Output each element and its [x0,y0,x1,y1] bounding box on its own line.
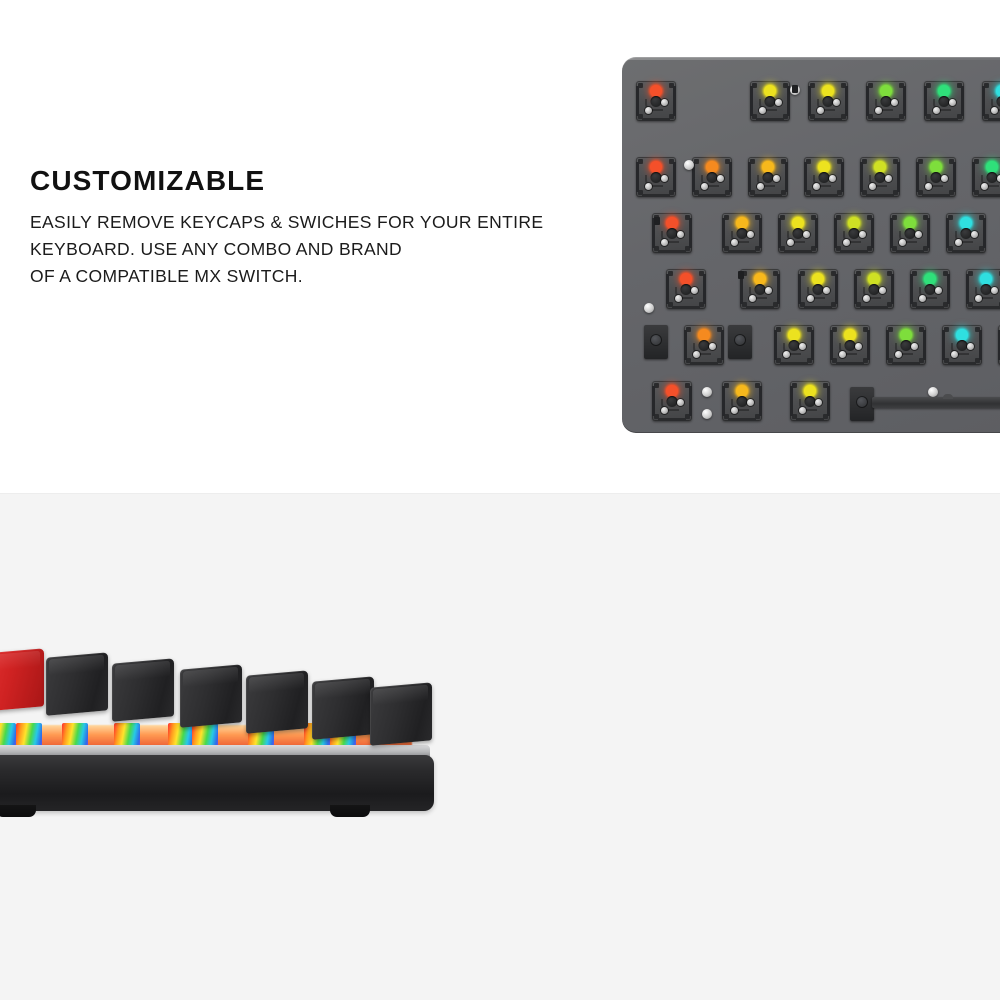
stabilizer-insert [850,387,874,421]
keyboard-switch-socket [636,81,676,121]
switch-pin-hole [991,287,998,294]
switch-pin-hole [677,231,684,238]
keycap-black [312,676,374,739]
switch-pin-hole [677,399,684,406]
switch-pin-hole [815,399,822,406]
switch-pin-hole [645,107,652,114]
switch-pin-hole [823,287,830,294]
keyboard-switch-socket [774,325,814,365]
switch-pin-hole [749,295,756,302]
switch-side-clip [738,271,744,279]
switch-pin-hole [731,407,738,414]
keycap-black [370,682,432,745]
switch-pin-hole [765,287,772,294]
switch-pin-hole [955,239,962,246]
switch-pin-hole [691,287,698,294]
keyboard-switch-socket [860,157,900,197]
keyboard-switch-socket [866,81,906,121]
switch-pin-hole [693,351,700,358]
keyboard-switch-socket [750,81,790,121]
keyboard-switch-socket [778,213,818,253]
keycap-black [180,664,242,727]
keyboard-switch-socket [748,157,788,197]
switch-pin-hole [833,99,840,106]
switch-pin-hole [731,239,738,246]
switch-pin-hole [757,183,764,190]
keyboard-switch-socket [830,325,870,365]
keycap-black [112,658,174,721]
switch-pin-hole [911,343,918,350]
keyboard-side-profile-image [0,645,452,815]
keyboard-foot [0,805,36,817]
keyboard-switch-socket [916,157,956,197]
body-line: KEYBOARD. USE ANY COMBO AND BRAND [30,236,630,263]
switch-pin-hole [935,287,942,294]
keyboard-switch-socket [722,381,762,421]
switch-pin-hole [661,175,668,182]
keyboard-body-base [0,755,434,811]
switch-pin-hole [813,183,820,190]
switch-pin-hole [971,231,978,238]
keyboard-switch-socket [834,213,874,253]
product-feature-page: CUSTOMIZABLE EASILY REMOVE KEYCAPS & SWI… [0,0,1000,1000]
switch-pin-hole [787,239,794,246]
switch-pin-hole [803,231,810,238]
switch-pin-hole [915,231,922,238]
switch-pin-hole [855,343,862,350]
keyboard-switch-socket [804,157,844,197]
keyboard-switch-socket [684,325,724,365]
switch-pin-hole [991,107,998,114]
switch-pin-hole [843,239,850,246]
switch-pin-hole [775,99,782,106]
body-line: EASILY REMOVE KEYCAPS & SWICHES FOR YOUR… [30,209,630,236]
keycap-black [246,670,308,733]
keyboard-switch-socket [666,269,706,309]
switch-pin-hole [919,295,926,302]
keyboard-switch-socket [692,157,732,197]
keyboard-switch-plate-image [622,57,1000,433]
section-customizable: CUSTOMIZABLE EASILY REMOVE KEYCAPS & SWI… [0,0,1000,494]
switch-pin-hole [661,239,668,246]
switch-pin-hole [975,295,982,302]
switch-pin-hole [899,239,906,246]
keyboard-switch-socket [722,213,762,253]
switch-pin-hole [675,295,682,302]
switch-pin-hole [807,295,814,302]
body-line: OF A COMPATIBLE MX SWITCH. [30,263,630,290]
switch-pin-hole [885,175,892,182]
keyboard-switch-socket [808,81,848,121]
switch-pin-hole [645,183,652,190]
keyboard-switch-socket [966,269,1000,309]
keyboard-switch-socket [740,269,780,309]
switch-pin-hole [869,183,876,190]
switch-pin-hole [829,175,836,182]
switch-pin-hole [949,99,956,106]
loose-pin-dot [928,387,938,397]
switch-pin-hole [709,343,716,350]
switch-pin-hole [981,183,988,190]
keyboard-switch-socket [910,269,950,309]
keyboard-switch-socket [942,325,982,365]
keyboard-switch-socket [924,81,964,121]
keyboard-switch-socket [636,157,676,197]
loose-pin-dot [702,409,712,419]
switch-side-clip [792,85,798,93]
switch-pin-hole [759,107,766,114]
keyboard-switch-socket [886,325,926,365]
switch-pin-hole [895,351,902,358]
switch-pin-hole [933,107,940,114]
switch-led [996,85,1000,97]
page-title-customizable: CUSTOMIZABLE [30,166,630,195]
switch-pin-hole [747,399,754,406]
switch-pin-hole [773,175,780,182]
keyboard-foot [330,805,370,817]
switch-pin-hole [863,295,870,302]
customizable-copy-block: CUSTOMIZABLE EASILY REMOVE KEYCAPS & SWI… [30,166,630,289]
switch-pin-hole [817,107,824,114]
switch-pin-hole [967,343,974,350]
keyboard-switch-socket [854,269,894,309]
switch-pin-hole [951,351,958,358]
loose-pin-dot [684,160,694,170]
switch-pin-hole [747,231,754,238]
switch-pin-hole [717,175,724,182]
switch-pin-hole [701,183,708,190]
switch-pin-hole [941,175,948,182]
switch-pin-hole [859,231,866,238]
spacebar-stabilizer-bar [872,397,1000,408]
keyboard-switch-socket [972,157,1000,197]
switch-pin-hole [925,183,932,190]
keyboard-switch-socket [890,213,930,253]
loose-pin-dot [644,303,654,313]
switch-pin-hole [839,351,846,358]
switch-pin-hole [875,107,882,114]
switch-pin-hole [783,351,790,358]
loose-pin-dot [702,387,712,397]
keyboard-switch-socket [790,381,830,421]
keyboard-switch-socket [982,81,1000,121]
switch-pin-hole [799,343,806,350]
switch-pin-hole [661,407,668,414]
keyboard-switch-socket [946,213,986,253]
keycap-escape-red [0,648,44,711]
switch-pin-hole [891,99,898,106]
switch-pin-hole [799,407,806,414]
stabilizer-insert [644,325,668,359]
switch-pin-hole [661,99,668,106]
switch-side-clip [654,217,660,225]
keyboard-switch-socket [652,381,692,421]
stabilizer-insert [728,325,752,359]
customizable-body: EASILY REMOVE KEYCAPS & SWICHES FOR YOUR… [30,209,630,289]
keycap-black [46,652,108,715]
keyboard-switch-socket [798,269,838,309]
switch-pin-hole [879,287,886,294]
